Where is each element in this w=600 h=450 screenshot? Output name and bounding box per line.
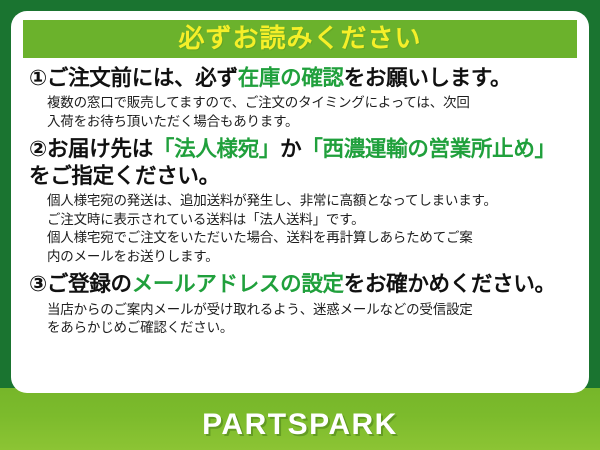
banner-title: 必ずお読みください bbox=[178, 26, 421, 52]
notice-item-heading: ②お届け先は「法人様宛」か「西濃運輸の営業所止め」をご指定ください。 bbox=[29, 137, 573, 189]
heading-text: をお確かめください。 bbox=[344, 272, 556, 297]
heading-accent-text: 「法人様宛」 bbox=[153, 137, 280, 162]
notice-banner: 必ずお読みください ①ご注文前には、必ず在庫の確認をお願いします。複数の窓口で販… bbox=[0, 0, 600, 450]
heading-accent-text: 在庫の確認 bbox=[238, 66, 344, 91]
notice-item: ③ご登録のメールアドレスの設定をお確かめください。当店からのご案内メールが受け取… bbox=[29, 272, 573, 337]
notice-item-description: 当店からのご案内メールが受け取れるよう、迷惑メールなどの受信設定をあらかじめご確… bbox=[29, 301, 573, 338]
description-line: ご注文時に表示されている送料は「法人送料」です。 bbox=[47, 211, 573, 230]
description-line: 個人様宅宛の発送は、追加送料が発生し、非常に高額となってしまいます。 bbox=[47, 192, 573, 211]
description-line: をあらかじめご確認ください。 bbox=[47, 319, 573, 338]
heading-accent-text: 「西濃運輸の営業所止め」 bbox=[301, 137, 555, 162]
heading-text: ご注文前には、必ず bbox=[47, 66, 238, 91]
description-line: 内のメールをお送りします。 bbox=[47, 248, 573, 267]
notice-item: ①ご注文前には、必ず在庫の確認をお願いします。複数の窓口で販売してますので、ご注… bbox=[29, 66, 573, 131]
notice-body: ①ご注文前には、必ず在庫の確認をお願いします。複数の窓口で販売してますので、ご注… bbox=[21, 64, 579, 338]
notice-item-description: 個人様宅宛の発送は、追加送料が発生し、非常に高額となってしまいます。ご注文時に表… bbox=[29, 192, 573, 267]
header-bar: 必ずお読みください bbox=[23, 20, 577, 58]
heading-text: をご指定ください。 bbox=[29, 164, 220, 189]
description-line: 個人様宅宛でご注文をいただいた場合、送料を再計算しあらためてご案 bbox=[47, 229, 573, 248]
brand-wordmark: PARTSPARK bbox=[0, 408, 600, 442]
notice-item-heading: ①ご注文前には、必ず在庫の確認をお願いします。 bbox=[29, 66, 573, 92]
notice-item-description: 複数の窓口で販売してますので、ご注文のタイミングによっては、次回入荷をお待ち頂い… bbox=[29, 94, 573, 131]
description-line: 当店からのご案内メールが受け取れるよう、迷惑メールなどの受信設定 bbox=[47, 301, 573, 320]
notice-item: ②お届け先は「法人様宛」か「西濃運輸の営業所止め」をご指定ください。個人様宅宛の… bbox=[29, 137, 573, 266]
description-line: 入荷をお待ち頂いただく場合もあります。 bbox=[47, 113, 573, 132]
notice-item-number-icon: ① bbox=[29, 66, 47, 91]
heading-text: か bbox=[280, 137, 301, 162]
notice-card: 必ずお読みください ①ご注文前には、必ず在庫の確認をお願いします。複数の窓口で販… bbox=[11, 11, 589, 393]
notice-item-number-icon: ② bbox=[29, 137, 47, 162]
notice-item-heading: ③ご登録のメールアドレスの設定をお確かめください。 bbox=[29, 272, 573, 298]
description-line: 複数の窓口で販売してますので、ご注文のタイミングによっては、次回 bbox=[47, 94, 573, 113]
notice-item-number-icon: ③ bbox=[29, 272, 47, 297]
heading-accent-text: メールアドレスの設定 bbox=[132, 272, 344, 297]
heading-text: お届け先は bbox=[47, 137, 153, 162]
heading-text: ご登録の bbox=[47, 272, 132, 297]
heading-text: をお願いします。 bbox=[344, 66, 511, 91]
